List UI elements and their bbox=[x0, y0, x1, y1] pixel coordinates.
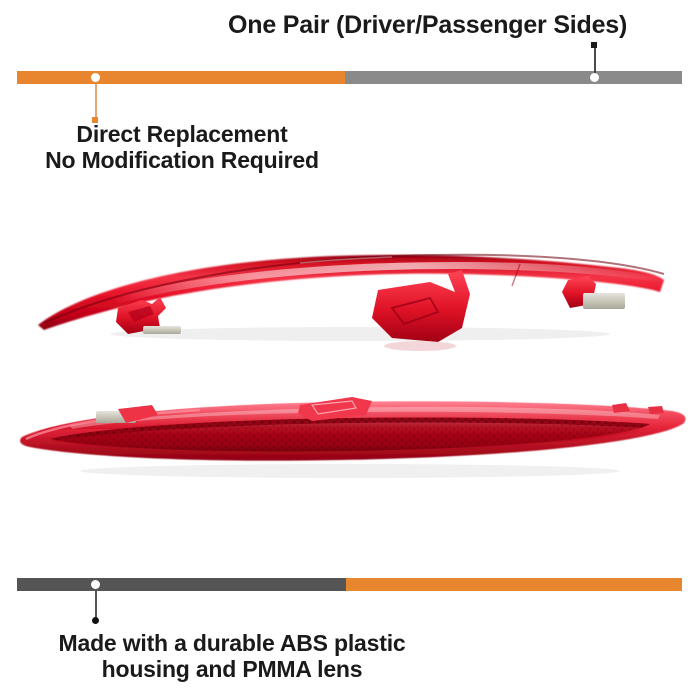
bottom-left-bar-dot bbox=[91, 580, 100, 589]
top-left-bar-dot bbox=[91, 73, 100, 82]
callout-direct-replacement-line1: Direct Replacement bbox=[12, 121, 352, 147]
top-callout-bar bbox=[17, 71, 682, 84]
callout-direct-replacement: Direct Replacement No Modification Requi… bbox=[12, 121, 352, 173]
reflector-clip-center bbox=[372, 270, 470, 342]
reflector-clip-right-tab bbox=[583, 293, 625, 309]
bottom-bar-segment-orange bbox=[346, 578, 682, 591]
reflector-back-svg bbox=[0, 230, 700, 360]
bottom-callout-bar bbox=[17, 578, 682, 591]
callout-direct-replacement-line2: No Modification Required bbox=[12, 147, 352, 173]
top-right-end-dot bbox=[591, 42, 597, 48]
top-bar-segment-gray bbox=[345, 71, 682, 84]
callout-material-line2: housing and PMMA lens bbox=[22, 656, 442, 682]
top-left-connector-line bbox=[95, 84, 97, 120]
reflector-front-svg bbox=[0, 375, 700, 500]
callout-material: Made with a durable ABS plastic housing … bbox=[22, 630, 442, 682]
callout-one-pair-label: One Pair (Driver/Passenger Sides) bbox=[228, 11, 627, 40]
top-right-bar-dot bbox=[590, 73, 599, 82]
callout-material-line1: Made with a durable ABS plastic bbox=[22, 630, 442, 656]
top-bar-segment-orange bbox=[17, 71, 345, 84]
reflector-clip-left-tab bbox=[143, 326, 181, 334]
reflector-clip-center-shadow bbox=[384, 341, 456, 351]
product-infographic: One Pair (Driver/Passenger Sides) Direct… bbox=[0, 0, 700, 700]
reflector-front-right-tab-2 bbox=[648, 406, 664, 414]
product-photo-area bbox=[0, 195, 700, 525]
rear-bumper-reflector-back-view bbox=[0, 230, 700, 360]
bottom-left-connector-line bbox=[95, 588, 97, 620]
rear-bumper-reflector-front-view bbox=[0, 375, 700, 500]
bottom-bar-segment-gray bbox=[17, 578, 346, 591]
bottom-left-end-dot bbox=[92, 617, 99, 624]
